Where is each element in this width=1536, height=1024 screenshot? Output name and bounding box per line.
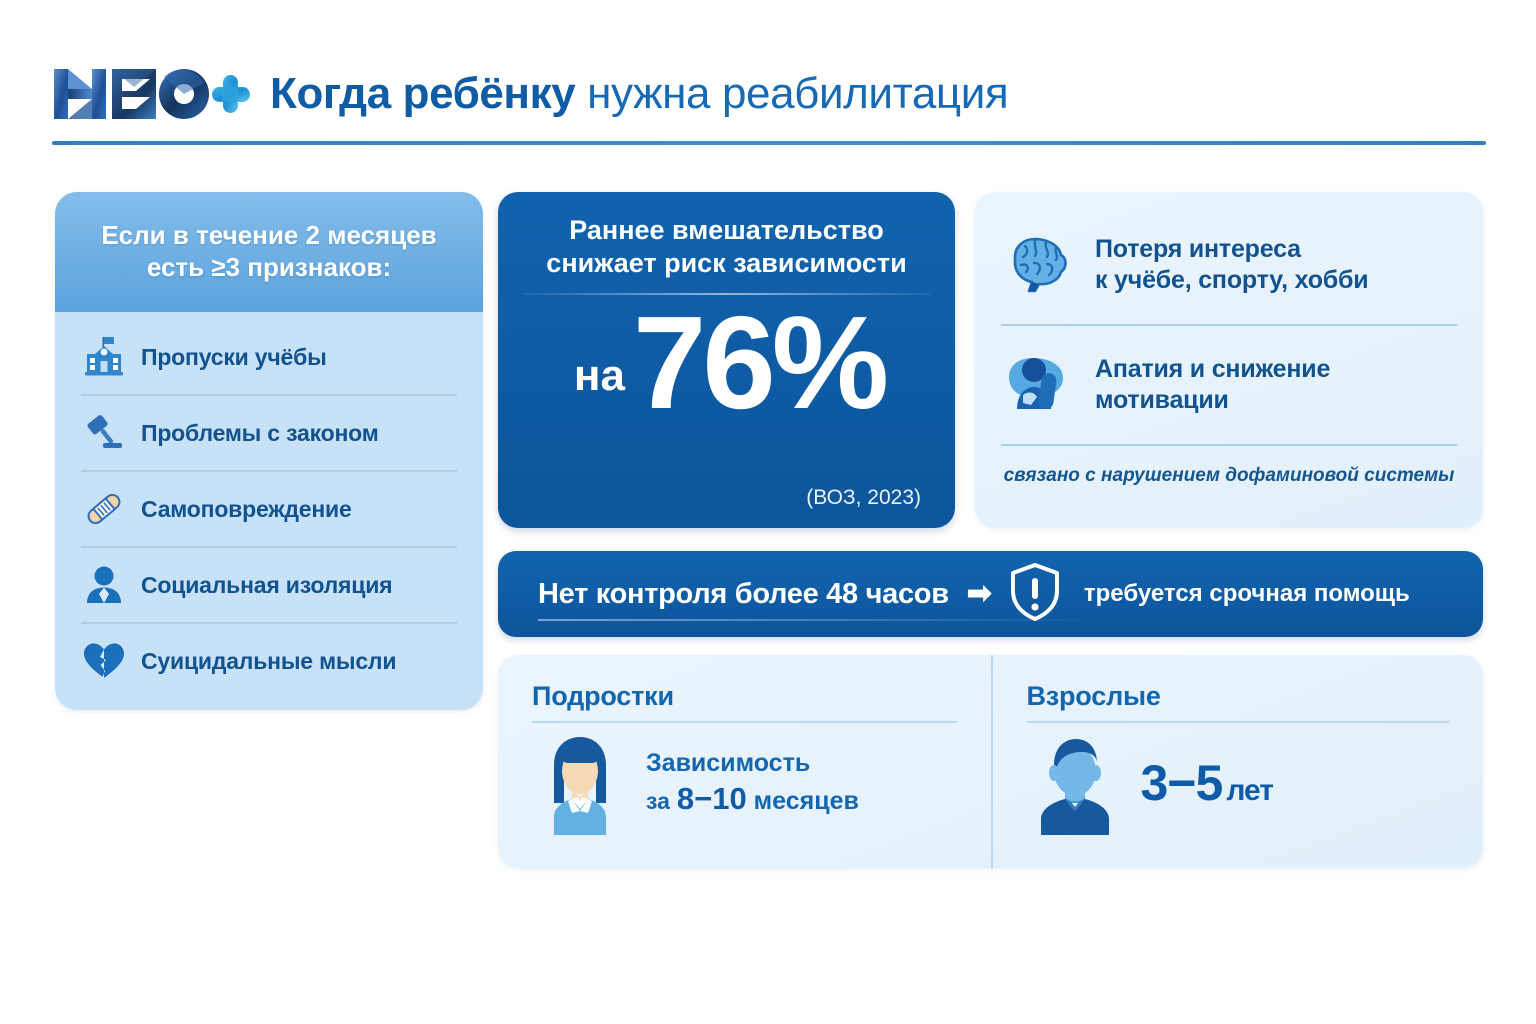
infographic-canvas: Когда ребёнку нужна реабилитация Если в … xyxy=(0,0,1536,1024)
broken-heart-icon xyxy=(81,638,127,684)
compare-body-teens: Зависимость за 8−10 месяцев xyxy=(532,731,957,835)
teen-line-2: за 8−10 месяцев xyxy=(646,779,859,819)
page-title-strong: Когда ребёнку xyxy=(270,69,575,118)
teen-line-1: Зависимость xyxy=(646,747,859,780)
stat-value: 76% xyxy=(633,297,885,429)
page-title-light: нужна реабилитация xyxy=(575,69,1008,118)
signs-header-line-1: Если в течение 2 месяцев xyxy=(101,220,436,252)
arrow-right-icon: ➡ xyxy=(967,579,992,609)
sign-label: Суицидальные мысли xyxy=(141,648,396,675)
age-comparison-card: Подростки xyxy=(498,655,1483,868)
adult-value-number: 3−5 xyxy=(1141,755,1223,811)
symptom-item-apathy[interactable]: Апатия и снижение мотивации xyxy=(1001,326,1457,446)
symptoms-note: связано с нарушением дофаминовой системы xyxy=(1001,446,1457,506)
person-icon xyxy=(81,562,127,608)
compare-rule xyxy=(1027,721,1450,723)
sign-item-law[interactable]: Проблемы с законом xyxy=(81,396,457,472)
gavel-icon xyxy=(81,410,127,456)
compare-column-teens: Подростки xyxy=(498,655,991,868)
stat-headline: Раннее вмешательство снижает риск зависи… xyxy=(498,192,955,280)
sign-item-isolation[interactable]: Социальная изоляция xyxy=(81,548,457,624)
signs-card: Если в течение 2 месяцев есть ≥3 признак… xyxy=(55,192,483,710)
early-intervention-stat-card: Раннее вмешательство снижает риск зависи… xyxy=(498,192,955,528)
stat-headline-line-2: снижает риск зависимости xyxy=(524,247,929,280)
bandage-icon xyxy=(81,486,127,532)
alert-action-text: требуется срочная помощь xyxy=(1084,580,1410,608)
header-divider xyxy=(52,141,1486,145)
compare-body-adults: 3−5лет xyxy=(1027,731,1450,835)
teen-girl-avatar xyxy=(532,731,628,835)
compare-title-adults: Взрослые xyxy=(1027,681,1450,712)
shield-alert-icon xyxy=(1010,563,1060,626)
apathy-person-icon xyxy=(1001,347,1077,423)
signs-card-header: Если в течение 2 месяцев есть ≥3 признак… xyxy=(55,192,483,312)
teen-unit: месяцев xyxy=(754,787,859,815)
neo-plus-logo xyxy=(52,63,252,125)
brain-icon xyxy=(1001,227,1077,303)
compare-title-teens: Подростки xyxy=(532,681,957,712)
stat-headline-line-1: Раннее вмешательство xyxy=(524,214,929,247)
sign-item-suicidal[interactable]: Суицидальные мысли xyxy=(81,624,457,698)
sign-label: Пропуски учёбы xyxy=(141,344,327,371)
adult-value-unit: лет xyxy=(1226,774,1273,807)
sign-item-school[interactable]: Пропуски учёбы xyxy=(81,320,457,396)
symptom-item-interest-loss[interactable]: Потеря интереса к учёбе, спорту, хобби xyxy=(1001,206,1457,326)
symptom-line-1: Потеря интереса xyxy=(1095,235,1301,263)
symptom-line-1: Апатия и снижение xyxy=(1095,355,1330,383)
compare-rule xyxy=(532,721,957,723)
adult-duration-text: 3−5лет xyxy=(1141,754,1273,812)
sign-label: Социальная изоляция xyxy=(141,572,392,599)
page-title: Когда ребёнку нужна реабилитация xyxy=(270,71,1008,117)
compare-column-adults: Взрослые 3−5лет xyxy=(991,655,1484,868)
sign-item-selfharm[interactable]: Самоповреждение xyxy=(81,472,457,548)
signs-list: Пропуски учёбы Проблемы с законом xyxy=(55,312,483,710)
symptom-line-2: к учёбе, спорту, хобби xyxy=(1095,265,1368,296)
teen-prefix: за xyxy=(646,788,670,814)
stat-source: (ВОЗ, 2023) xyxy=(806,486,921,510)
urgent-alert-banner[interactable]: Нет контроля более 48 часов ➡ требуется … xyxy=(498,551,1483,637)
alert-condition-text: Нет контроля более 48 часов xyxy=(538,578,949,611)
alert-underline xyxy=(538,619,1078,621)
teen-dependency-text: Зависимость за 8−10 месяцев xyxy=(646,747,859,820)
page-header: Когда ребёнку нужна реабилитация xyxy=(52,44,1488,144)
stat-prefix: на xyxy=(574,351,625,401)
signs-header-line-2: есть ≥3 признаков: xyxy=(147,252,391,284)
teen-number: 8−10 xyxy=(677,781,747,816)
symptom-text: Потеря интереса к учёбе, спорту, хобби xyxy=(1095,234,1368,297)
sign-label: Самоповреждение xyxy=(141,496,352,523)
symptom-text: Апатия и снижение мотивации xyxy=(1095,354,1330,417)
school-icon xyxy=(81,334,127,380)
stat-figure: на 76% xyxy=(498,297,955,429)
symptom-line-2: мотивации xyxy=(1095,385,1330,416)
sign-label: Проблемы с законом xyxy=(141,420,379,447)
symptoms-card: Потеря интереса к учёбе, спорту, хобби А… xyxy=(975,192,1483,528)
adult-man-avatar xyxy=(1027,731,1123,835)
